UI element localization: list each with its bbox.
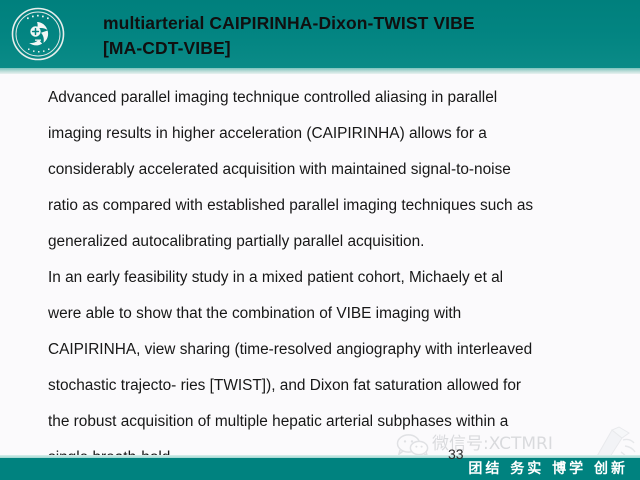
paragraph-line: considerably accelerated acquisition wit… xyxy=(48,152,628,188)
page-number: 33 xyxy=(448,446,464,462)
slide-title-line-2: [MA-CDT-VIBE] xyxy=(103,36,623,61)
paragraph-line: ratio as compared with established paral… xyxy=(48,188,628,224)
paragraph-line: Advanced parallel imaging technique cont… xyxy=(48,80,628,116)
body-paragraph-1: Advanced parallel imaging technique cont… xyxy=(48,80,628,260)
slide-footer: 团结 务实 博学 创新 xyxy=(0,458,640,480)
paragraph-line: were able to show that the combination o… xyxy=(48,296,628,332)
presentation-slide: multiarterial CAIPIRINHA-Dixon-TWIST VIB… xyxy=(0,0,640,480)
slide-title: multiarterial CAIPIRINHA-Dixon-TWIST VIB… xyxy=(103,11,623,61)
slide-title-line-1: multiarterial CAIPIRINHA-Dixon-TWIST VIB… xyxy=(103,11,623,36)
footer-motto-text: 团结 务实 博学 创新 xyxy=(468,460,628,478)
paragraph-line: stochastic trajecto- ries [TWIST]), and … xyxy=(48,368,628,404)
paragraph-line: In an early feasibility study in a mixed… xyxy=(48,260,628,296)
paragraph-line: CAIPIRINHA, view sharing (time-resolved … xyxy=(48,332,628,368)
paragraph-line: imaging results in higher acceleration (… xyxy=(48,116,628,152)
university-hospital-emblem-logo xyxy=(11,7,65,61)
paragraph-line: generalized autocalibrating partially pa… xyxy=(48,224,628,260)
slide-body: Advanced parallel imaging technique cont… xyxy=(0,74,640,456)
